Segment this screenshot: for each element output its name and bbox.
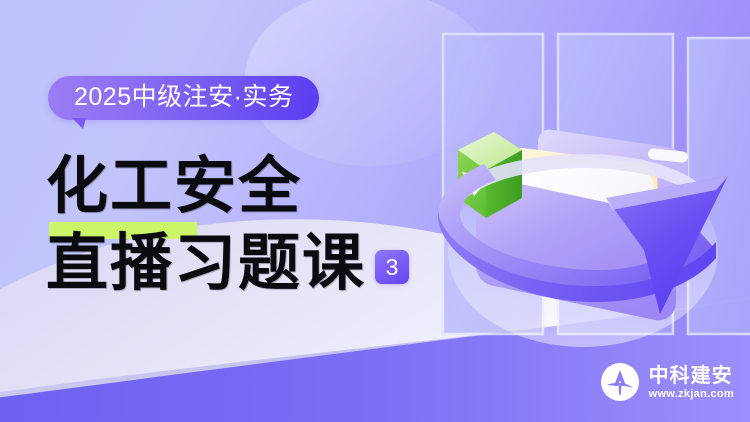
- course-tag-label: 2025中级注安·实务: [74, 83, 293, 111]
- zk-circle-logo-icon: [600, 362, 640, 402]
- course-tag-pill: 2025中级注安·实务: [48, 76, 319, 120]
- title-line-2: 直播习题课: [46, 227, 366, 299]
- folder-documents-refresh-illustration: [398, 2, 750, 354]
- brand-name: 中科建安: [649, 365, 734, 385]
- title-line-1-row: 化工安全: [46, 150, 409, 225]
- course-tag: 2025中级注安·实务: [48, 76, 319, 120]
- tag-tail-icon: [72, 118, 86, 129]
- brand-logo-text: 中科建安 www.zkjan.com: [649, 365, 734, 400]
- episode-badge: 3: [375, 250, 409, 284]
- brand-logo: 中科建安 www.zkjan.com: [600, 362, 734, 402]
- title-line-2-row: 直播习题课 3: [46, 227, 409, 299]
- course-title: 化工安全 直播习题课 3: [46, 150, 409, 299]
- brand-url: www.zkjan.com: [649, 389, 734, 400]
- title-line-1: 化工安全: [46, 149, 302, 222]
- course-banner: 2025中级注安·实务 化工安全 直播习题课 3 中科建安 www.zkjan.…: [0, 0, 750, 422]
